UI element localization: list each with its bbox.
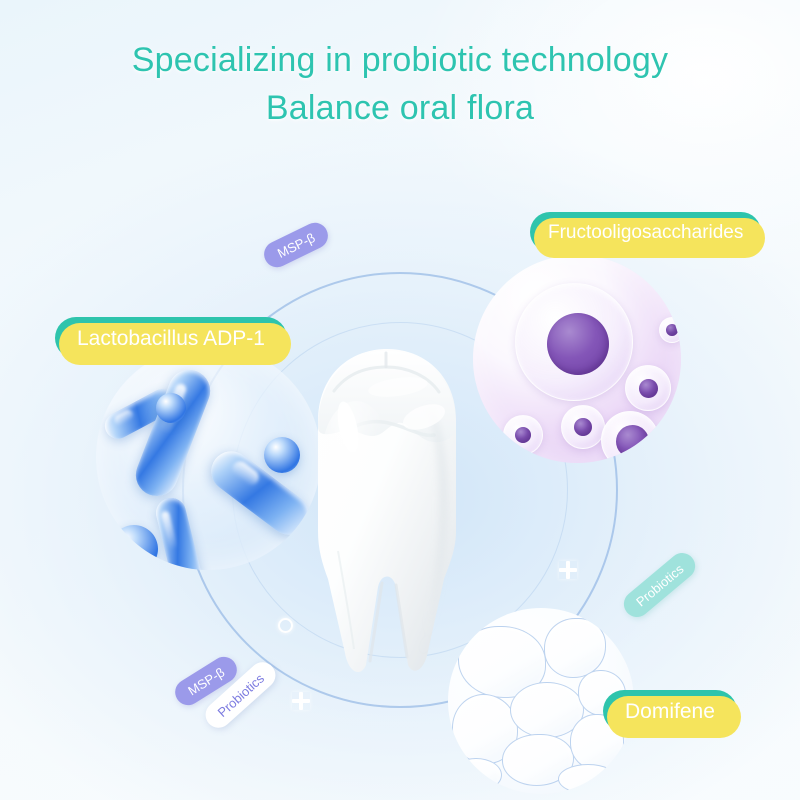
tag-label: Probiotics bbox=[633, 562, 685, 609]
cell-nucleus bbox=[574, 418, 592, 436]
banner-stage: MSP-β MSP-β Probiotics Probiotics Lactob… bbox=[0, 0, 800, 800]
bacteria-sphere bbox=[110, 525, 158, 570]
cell-nucleus bbox=[515, 427, 531, 443]
headline-line-2: Balance oral flora bbox=[0, 84, 800, 132]
tag-msp-beta-top[interactable]: MSP-β bbox=[260, 218, 333, 271]
foam-bubble bbox=[450, 758, 502, 792]
pill-label: Domifene bbox=[625, 701, 715, 722]
bacillus-rod bbox=[130, 364, 217, 502]
bacillus-rod bbox=[153, 495, 205, 570]
headline-line-1: Specializing in probiotic technology bbox=[132, 41, 668, 79]
molar-tooth-image bbox=[278, 335, 496, 705]
cell-nucleus bbox=[547, 313, 609, 375]
tag-label: MSP-β bbox=[186, 665, 227, 697]
cell-nucleus bbox=[639, 379, 658, 398]
probiotic-cells-circle-image bbox=[473, 255, 681, 463]
tag-probiotics-right[interactable]: Probiotics bbox=[619, 548, 701, 623]
bacteria-sphere bbox=[156, 393, 186, 423]
tag-label: MSP-β bbox=[275, 230, 317, 259]
foam-bubble bbox=[558, 764, 618, 794]
headline: Specializing in probiotic technology Bal… bbox=[0, 36, 800, 133]
pill-label: Fructooligosaccharides bbox=[548, 223, 743, 242]
cell-nucleus bbox=[616, 425, 649, 458]
label-fructooligosaccharides[interactable]: Fructooligosaccharides bbox=[530, 212, 761, 252]
foam-bubble bbox=[544, 618, 606, 678]
pill-label: Lactobacillus ADP-1 bbox=[77, 328, 265, 349]
plus-mark-icon-right bbox=[559, 561, 577, 579]
label-domifene[interactable]: Domifene bbox=[603, 690, 737, 732]
cell-nucleus bbox=[666, 324, 678, 336]
label-lactobacillus-adp1[interactable]: Lactobacillus ADP-1 bbox=[55, 317, 287, 359]
